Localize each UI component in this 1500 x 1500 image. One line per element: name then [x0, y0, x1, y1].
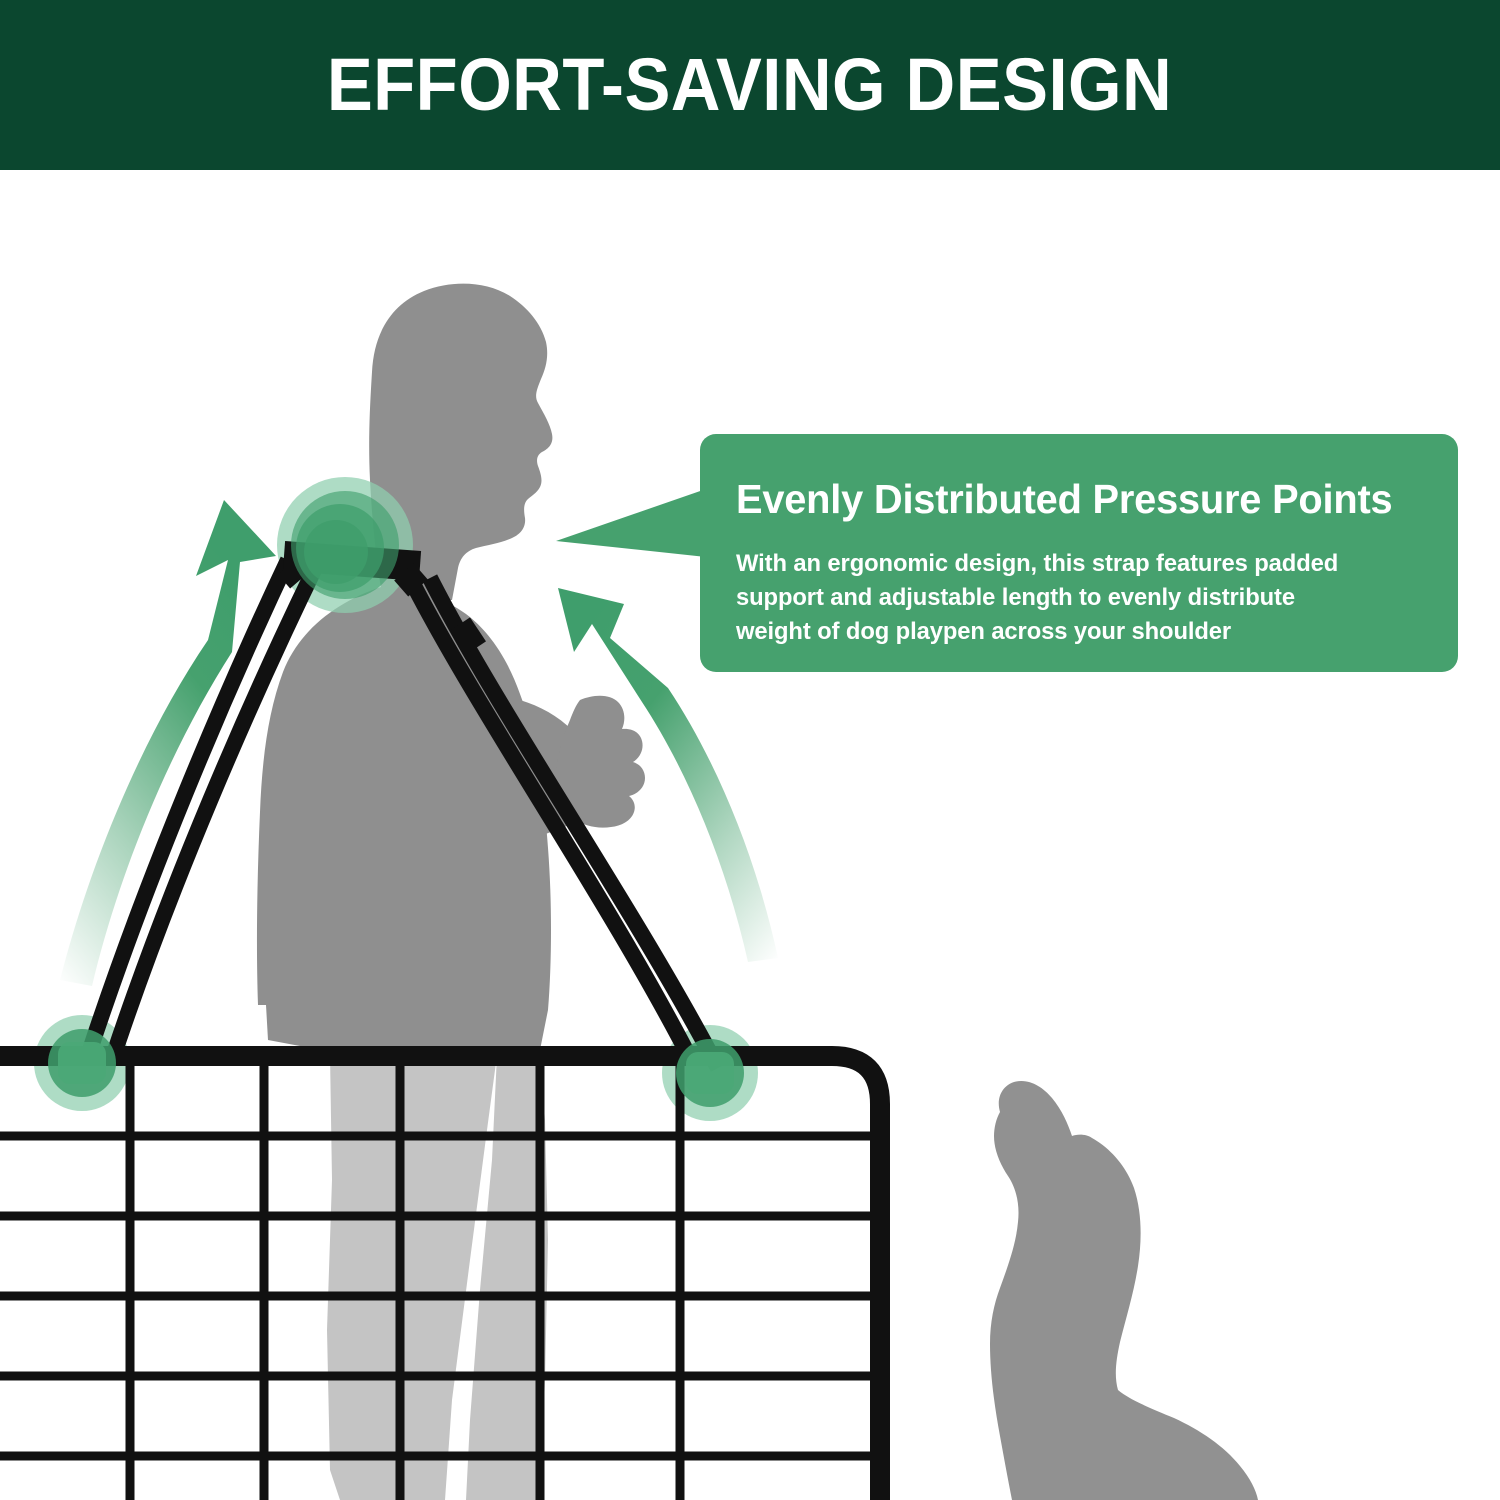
person-legs: [327, 1055, 548, 1500]
right-anchor-pressure-point-icon: [676, 1039, 744, 1107]
illustration-svg: [0, 0, 1500, 1500]
dog-silhouette: [990, 1081, 1258, 1500]
callout-heading: Evenly Distributed Pressure Points: [736, 478, 1394, 521]
illustration-stage: [0, 0, 1500, 1500]
callout-body-line-2: support and adjustable length to evenly …: [736, 581, 1394, 615]
infographic-root: EFFORT-SAVING DESIGN: [0, 0, 1500, 1500]
callout-body: With an ergonomic design, this strap fea…: [736, 547, 1394, 648]
pressure-points-callout: Evenly Distributed Pressure Points With …: [700, 434, 1458, 672]
callout-body-line-3: weight of dog playpen across your should…: [736, 615, 1394, 649]
callout-body-line-1: With an ergonomic design, this strap fea…: [736, 547, 1394, 581]
callout-pointer-icon: [556, 489, 706, 559]
shoulder-pressure-point-icon: [291, 491, 399, 599]
left-anchor-pressure-point-icon: [48, 1029, 116, 1097]
